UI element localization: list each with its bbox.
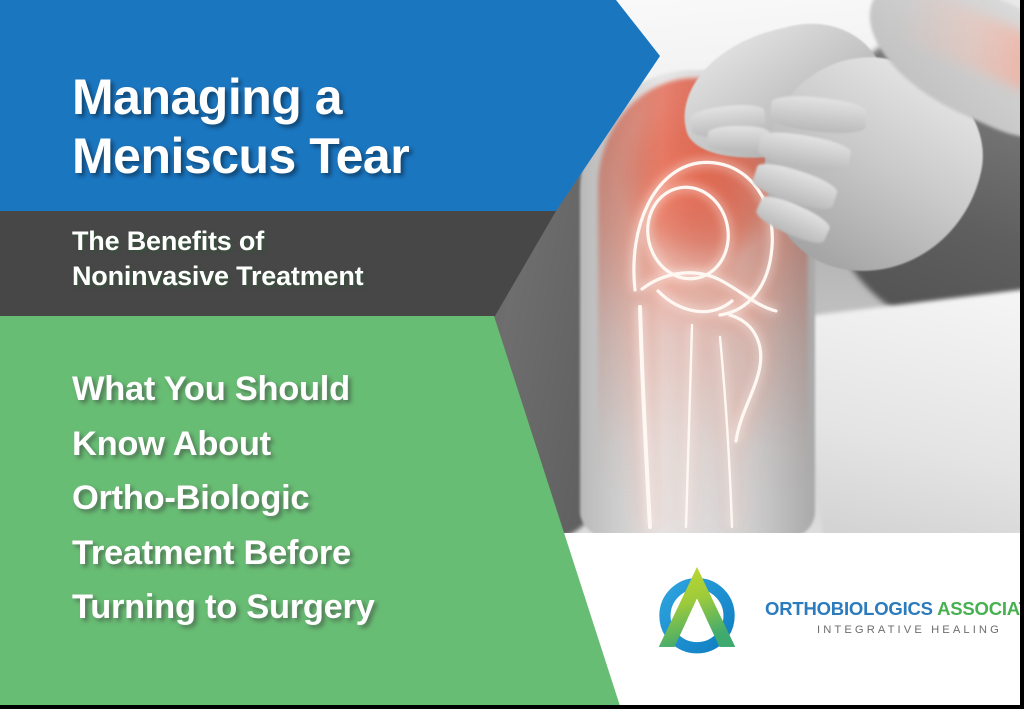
subtitle-line-2: Noninvasive Treatment — [72, 259, 552, 294]
brand-wordmark: ORTHOBIOLOGICS ASSOCIATES INTEGRATIVE HE… — [765, 578, 1024, 636]
brand-name: ORTHOBIOLOGICS ASSOCIATES — [765, 600, 1024, 619]
brand-name-secondary: ASSOCIATES — [933, 598, 1024, 619]
triangle-in-circle-logo-icon — [645, 555, 749, 659]
page-body-heading: What You Should Know About Ortho-Biologi… — [72, 362, 492, 635]
body-line-4: Treatment Before — [72, 526, 492, 581]
article-header-graphic: ORTHOBIOLOGICS ASSOCIATES INTEGRATIVE HE… — [0, 0, 1024, 709]
page-subtitle: The Benefits of Noninvasive Treatment — [72, 224, 552, 293]
brand-logo: ORTHOBIOLOGICS ASSOCIATES INTEGRATIVE HE… — [645, 555, 1024, 659]
title-line-2: Meniscus Tear — [72, 127, 592, 186]
title-line-1: Managing a — [72, 68, 592, 127]
brand-name-primary: ORTHOBIOLOGICS — [765, 598, 933, 619]
body-line-2: Know About — [72, 417, 492, 472]
subtitle-line-1: The Benefits of — [72, 224, 552, 259]
body-line-3: Ortho-Biologic — [72, 471, 492, 526]
page-title: Managing a Meniscus Tear — [72, 68, 592, 186]
brand-tagline: INTEGRATIVE HEALING — [817, 624, 1002, 636]
body-line-1: What You Should — [72, 362, 492, 417]
photo-chair — [796, 284, 1024, 533]
body-line-5: Turning to Surgery — [72, 580, 492, 635]
